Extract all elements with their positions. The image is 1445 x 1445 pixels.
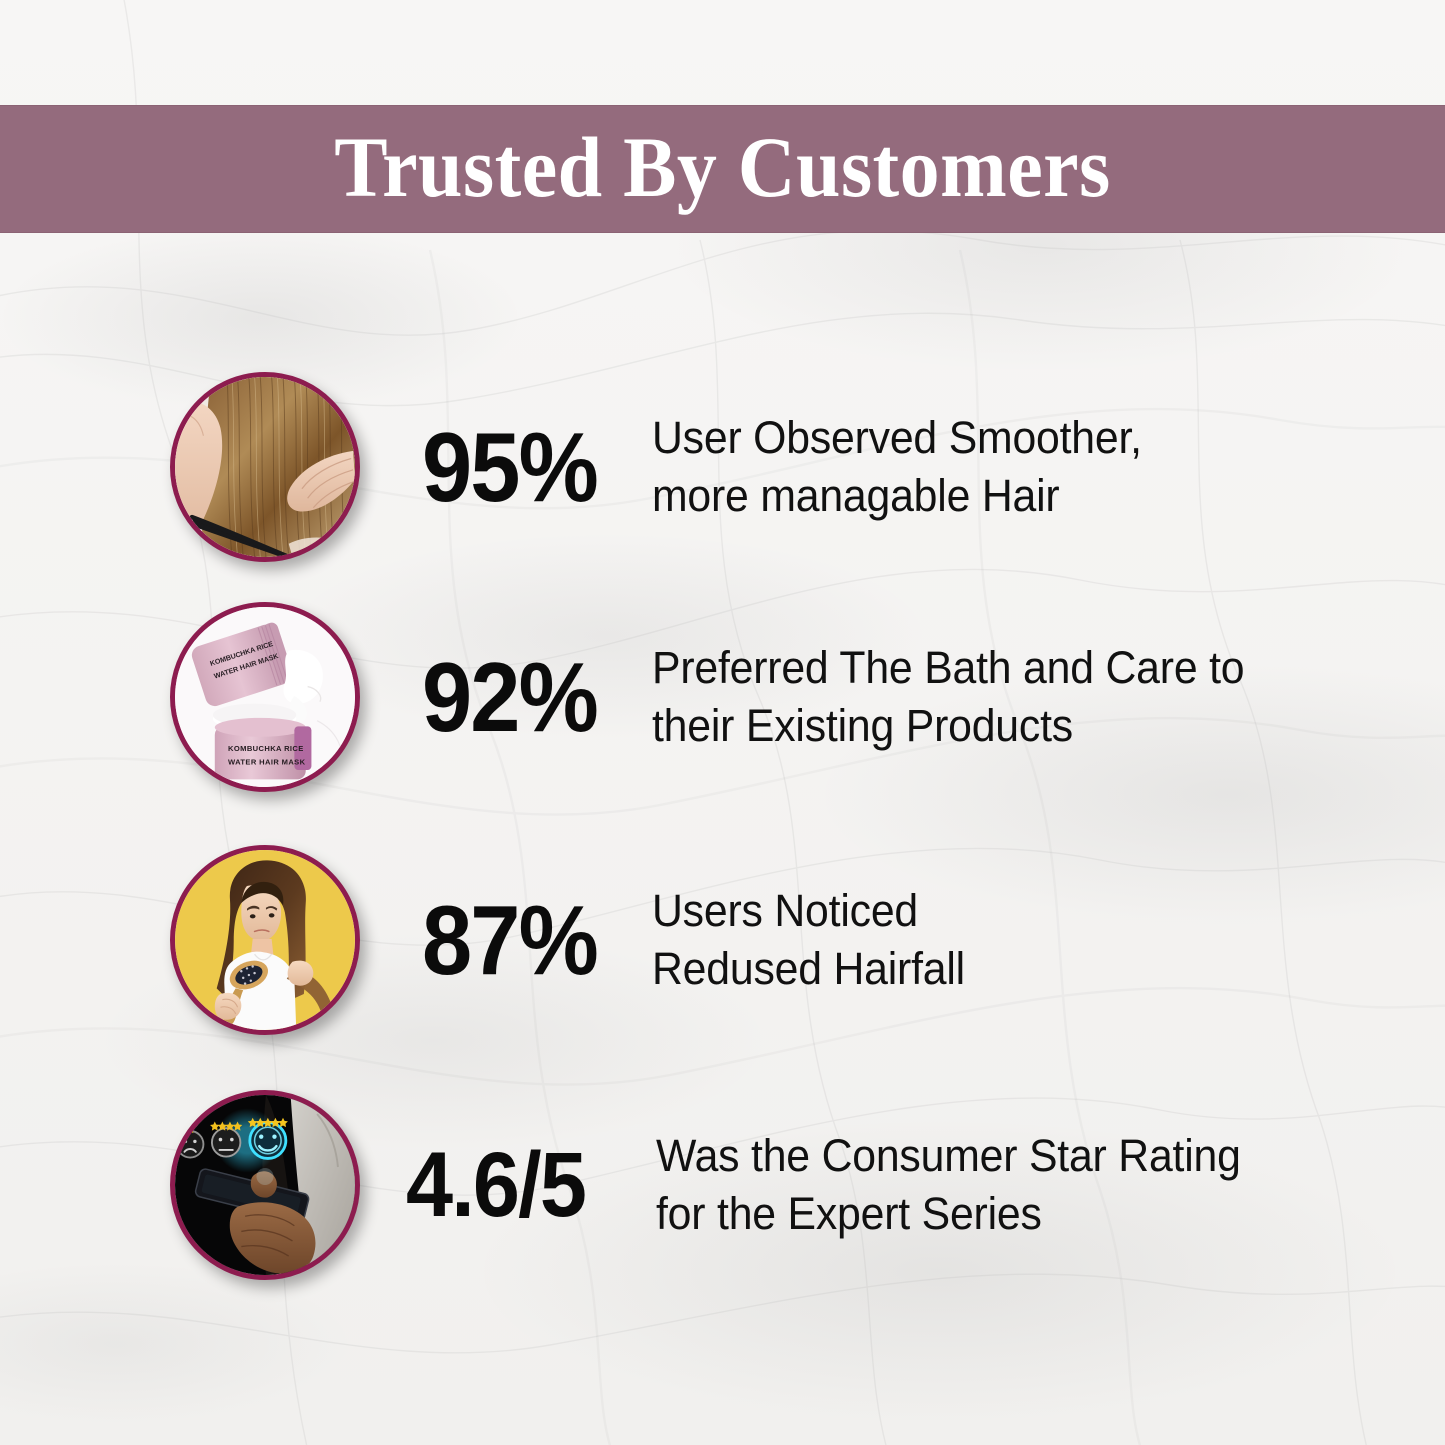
stat-description: Was the Consumer Star Rating for the Exp… [656,1127,1406,1244]
svg-text:KOMBUCHKA RICE: KOMBUCHKA RICE [228,744,304,753]
stat-image-wrapper [170,1090,360,1280]
stat-description-line2: Redused Hairfall [652,940,1367,999]
stat-image-wrapper [170,372,360,562]
stat-description: Users Noticed Redused Hairfall [652,882,1405,999]
stat-row: KOMBUCHKA RICE WATER HAIR MASK [0,602,1445,792]
poster-canvas: Trusted By Customers [0,0,1445,1445]
stat-description-line1: User Observed Smoother, [652,412,1142,463]
svg-text:WATER HAIR MASK: WATER HAIR MASK [228,757,306,766]
phone-star-rating-smileys-photo [170,1090,360,1280]
kombuchka-rice-water-hair-mask-jar-photo: KOMBUCHKA RICE WATER HAIR MASK [170,602,360,792]
stat-description-line2: their Existing Products [652,697,1367,756]
stats-list: 95% User Observed Smoother, more managab… [0,0,1445,1445]
stat-row: 4.6/5 Was the Consumer Star Rating for t… [0,1090,1445,1280]
stat-description-line2: more managable Hair [652,467,1367,526]
stat-value: 4.6/5 [406,1139,636,1231]
hand-running-through-smooth-hair-photo [170,372,360,562]
stat-image-wrapper: KOMBUCHKA RICE WATER HAIR MASK [170,602,360,792]
stat-description-line2: for the Expert Series [656,1185,1368,1244]
stat-description-line1: Was the Consumer Star Rating [656,1130,1241,1181]
stat-description-line1: Preferred The Bath and Care to [652,642,1244,693]
stat-description: User Observed Smoother, more managable H… [652,409,1405,526]
stat-value: 95% [422,418,634,516]
stat-value: 87% [422,891,634,989]
stat-image-wrapper [170,845,360,1035]
stat-description: Preferred The Bath and Care to their Exi… [652,639,1405,756]
stat-row: 95% User Observed Smoother, more managab… [0,372,1445,562]
woman-with-hairbrush-yellow-background-photo [170,845,360,1035]
stat-value: 92% [422,648,634,746]
stat-description-line1: Users Noticed [652,885,918,936]
stat-row: 87% Users Noticed Redused Hairfall [0,845,1445,1035]
